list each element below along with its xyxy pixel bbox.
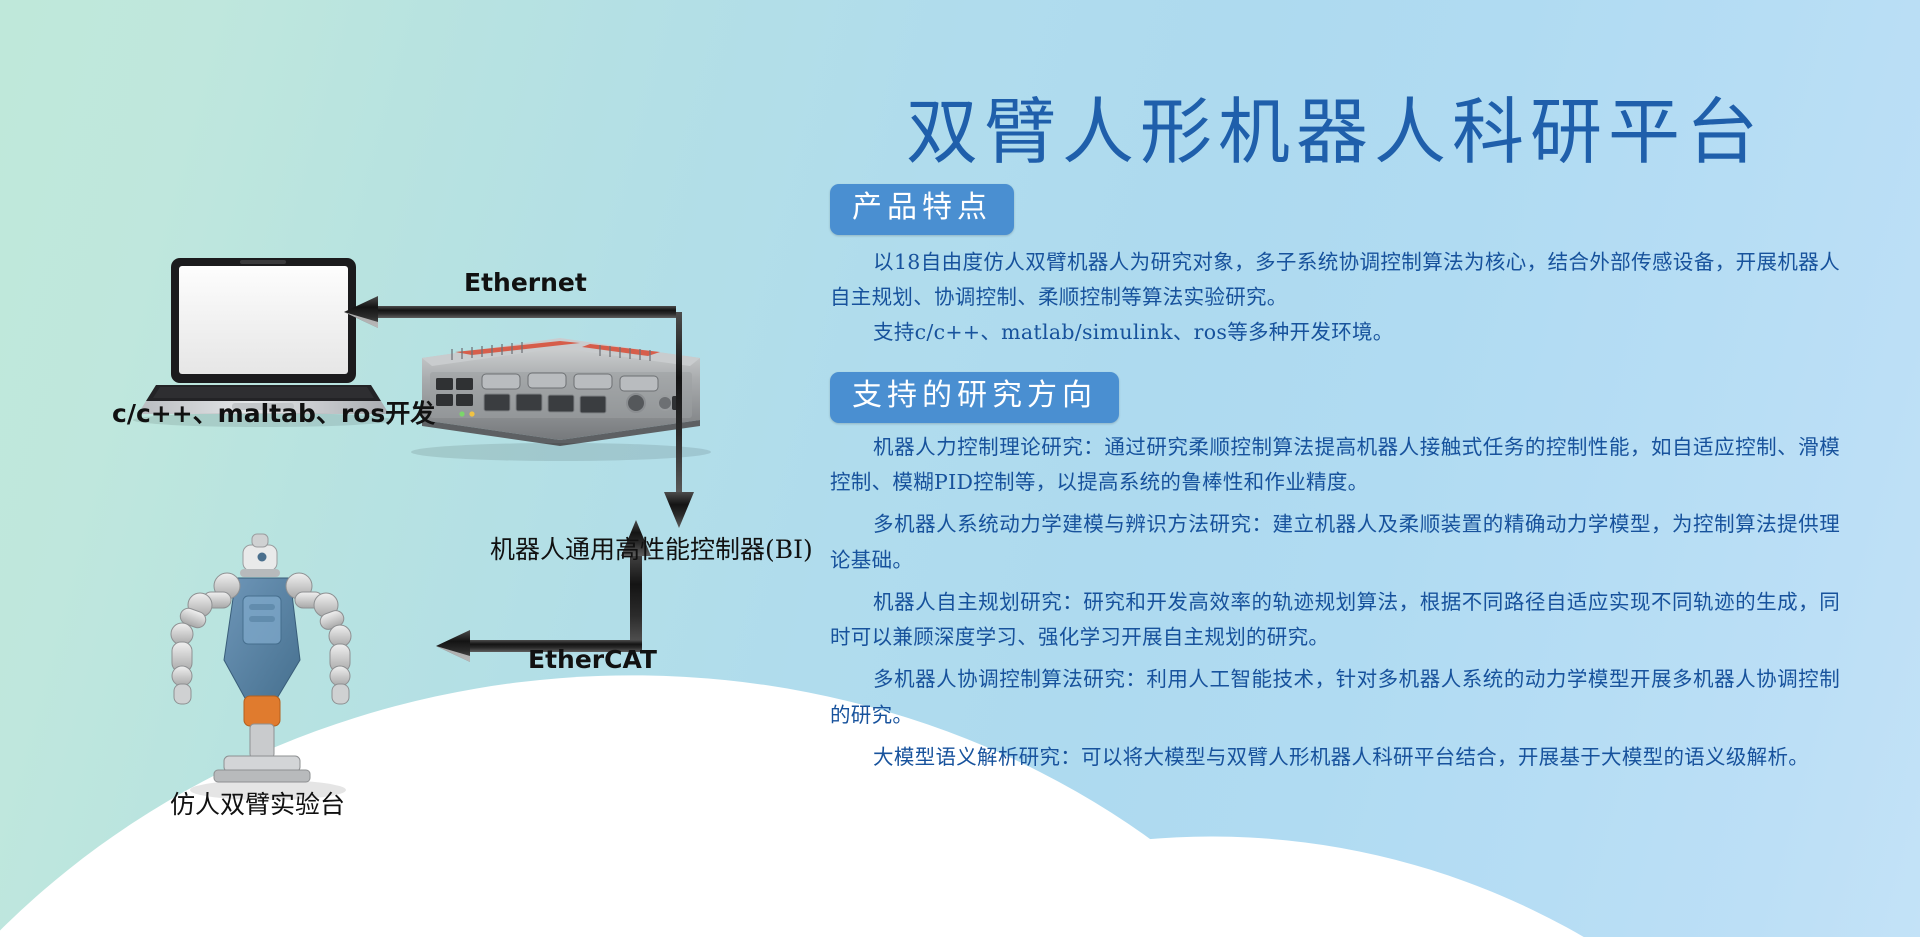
ethernet-link-label: Ethernet bbox=[464, 268, 587, 297]
research-direction-2: 多机器人系统动力学建模与辨识方法研究：建立机器人及柔顺装置的精确动力学模型，为控… bbox=[830, 507, 1840, 578]
humanoid-robot-icon bbox=[171, 534, 351, 800]
architecture-diagram: Ethernet EtherCAT c/c++、maltab、ros开发 机器人… bbox=[0, 0, 840, 937]
robot-label: 仿人双臂实验台 bbox=[170, 785, 345, 821]
research-direction-3: 机器人自主规划研究：研究和开发高效率的轨迹规划算法，根据不同路径自适应实现不同轨… bbox=[830, 585, 1840, 656]
section-badge-product-features: 产品特点 bbox=[830, 184, 1014, 235]
section-badge-research-directions: 支持的研究方向 bbox=[830, 372, 1119, 423]
diagram-svg bbox=[0, 0, 840, 937]
slide-canvas: Ethernet EtherCAT c/c++、maltab、ros开发 机器人… bbox=[0, 0, 1920, 937]
robot-head bbox=[240, 534, 280, 577]
controller-icon bbox=[411, 338, 711, 461]
ethercat-link-label: EtherCAT bbox=[528, 645, 657, 674]
content-panel: 双臂人形机器人科研平台 产品特点 以18自由度仿人双臂机器人为研究对象，多子系统… bbox=[830, 96, 1840, 775]
controller-label: 机器人通用高性能控制器(BI) bbox=[490, 530, 813, 566]
research-direction-4: 多机器人协调控制算法研究：利用人工智能技术，针对多机器人系统的动力学模型开展多机… bbox=[830, 662, 1840, 733]
laptop-label: c/c++、maltab、ros开发 bbox=[112, 394, 435, 430]
page-title: 双臂人形机器人科研平台 bbox=[830, 96, 1840, 168]
section-research-directions: 支持的研究方向 机器人力控制理论研究：通过研究柔顺控制算法提高机器人接触式任务的… bbox=[830, 372, 1840, 775]
section-product-features: 产品特点 以18自由度仿人双臂机器人为研究对象，多子系统协调控制算法为核心，结合… bbox=[830, 184, 1840, 350]
research-direction-1: 机器人力控制理论研究：通过研究柔顺控制算法提高机器人接触式任务的控制性能，如自适… bbox=[830, 430, 1840, 501]
robot-pedestal bbox=[214, 696, 310, 782]
research-direction-5: 大模型语义解析研究：可以将大模型与双臂人形机器人科研平台结合，开展基于大模型的语… bbox=[830, 740, 1840, 775]
feature-paragraph-1: 以18自由度仿人双臂机器人为研究对象，多子系统协调控制算法为核心，结合外部传感设… bbox=[830, 245, 1840, 316]
feature-paragraph-2: 支持c/c++、matlab/simulink、ros等多种开发环境。 bbox=[830, 315, 1840, 350]
